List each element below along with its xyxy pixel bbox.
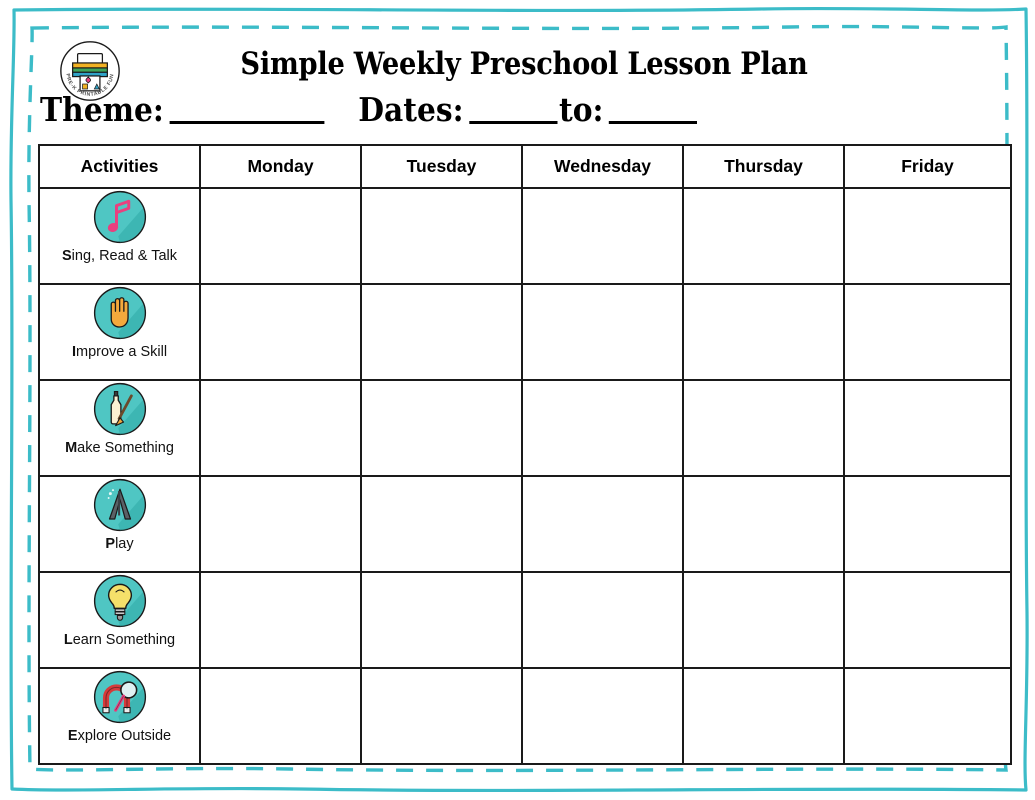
plan-cell-monday[interactable]	[200, 572, 361, 668]
date-from-blank-line[interactable]	[469, 121, 557, 124]
plan-cell-thursday[interactable]	[683, 284, 844, 380]
table-row: Learn Something	[39, 572, 1011, 668]
plan-cell-wednesday[interactable]	[522, 380, 683, 476]
plan-cell-friday[interactable]	[844, 380, 1011, 476]
plan-cell-monday[interactable]	[200, 188, 361, 284]
plan-cell-thursday[interactable]	[683, 188, 844, 284]
theme-label: Theme:	[40, 90, 164, 129]
page-title: Simple Weekly Preschool Lesson Plan	[96, 46, 951, 82]
plan-cell-tuesday[interactable]	[361, 668, 522, 764]
music-note-icon	[92, 189, 148, 245]
plan-cell-monday[interactable]	[200, 668, 361, 764]
dates-label: Dates:	[358, 90, 463, 129]
column-header-monday: Monday	[200, 145, 361, 188]
plan-cell-wednesday[interactable]	[522, 476, 683, 572]
activity-cell-explore-outside: Explore Outside	[39, 668, 200, 764]
plan-cell-friday[interactable]	[844, 668, 1011, 764]
activity-label: Make Something	[40, 441, 199, 456]
lesson-plan-page: PRE-K PRINTABLE FUN Simple Weekly Presch…	[0, 0, 1035, 800]
plan-cell-tuesday[interactable]	[361, 476, 522, 572]
plan-cell-monday[interactable]	[200, 284, 361, 380]
plan-cell-thursday[interactable]	[683, 572, 844, 668]
plan-cell-wednesday[interactable]	[522, 572, 683, 668]
column-header-friday: Friday	[844, 145, 1011, 188]
table-row: Sing, Read & Talk	[39, 188, 1011, 284]
column-header-activities: Activities	[39, 145, 200, 188]
table-row: Explore Outside	[39, 668, 1011, 764]
theme-dates-line: Theme:Dates:to:	[40, 90, 915, 129]
plan-cell-tuesday[interactable]	[361, 572, 522, 668]
plan-cell-monday[interactable]	[200, 380, 361, 476]
column-header-wednesday: Wednesday	[522, 145, 683, 188]
glue-paintbrush-icon	[92, 381, 148, 437]
plan-cell-friday[interactable]	[844, 284, 1011, 380]
activity-label: Explore Outside	[40, 729, 199, 744]
plan-cell-thursday[interactable]	[683, 380, 844, 476]
activity-label: Play	[40, 537, 199, 552]
magnet-magnifier-icon	[92, 669, 148, 725]
plan-cell-monday[interactable]	[200, 476, 361, 572]
plan-cell-wednesday[interactable]	[522, 188, 683, 284]
column-header-thursday: Thursday	[683, 145, 844, 188]
plan-cell-wednesday[interactable]	[522, 668, 683, 764]
activity-cell-sing-read-talk: Sing, Read & Talk	[39, 188, 200, 284]
header: PRE-K PRINTABLE FUN Simple Weekly Presch…	[38, 28, 1010, 144]
lesson-plan-table: Activities Monday Tuesday Wednesday Thur…	[38, 144, 1012, 765]
slide-icon	[92, 477, 148, 533]
table-header-row: Activities Monday Tuesday Wednesday Thur…	[39, 145, 1011, 188]
plan-cell-friday[interactable]	[844, 188, 1011, 284]
plan-cell-wednesday[interactable]	[522, 284, 683, 380]
activity-cell-learn-something: Learn Something	[39, 572, 200, 668]
activity-cell-play: Play	[39, 476, 200, 572]
plan-cell-tuesday[interactable]	[361, 188, 522, 284]
activity-label: Improve a Skill	[40, 345, 199, 360]
activity-label: Sing, Read & Talk	[40, 249, 199, 264]
plan-cell-friday[interactable]	[844, 476, 1011, 572]
plan-cell-thursday[interactable]	[683, 668, 844, 764]
plan-cell-thursday[interactable]	[683, 476, 844, 572]
plan-cell-friday[interactable]	[844, 572, 1011, 668]
theme-blank-line[interactable]	[169, 121, 324, 124]
date-to-blank-line[interactable]	[609, 121, 697, 124]
activity-cell-make-something: Make Something	[39, 380, 200, 476]
table-row: Make Something	[39, 380, 1011, 476]
hand-icon	[92, 285, 148, 341]
table-row: Play	[39, 476, 1011, 572]
sheet: PRE-K PRINTABLE FUN Simple Weekly Presch…	[38, 28, 1010, 770]
column-header-tuesday: Tuesday	[361, 145, 522, 188]
activity-label: Learn Something	[40, 633, 199, 648]
activity-cell-improve-a-skill: Improve a Skill	[39, 284, 200, 380]
lightbulb-icon	[92, 573, 148, 629]
table-row: Improve a Skill	[39, 284, 1011, 380]
plan-cell-tuesday[interactable]	[361, 380, 522, 476]
to-label: to:	[559, 90, 603, 129]
plan-cell-tuesday[interactable]	[361, 284, 522, 380]
